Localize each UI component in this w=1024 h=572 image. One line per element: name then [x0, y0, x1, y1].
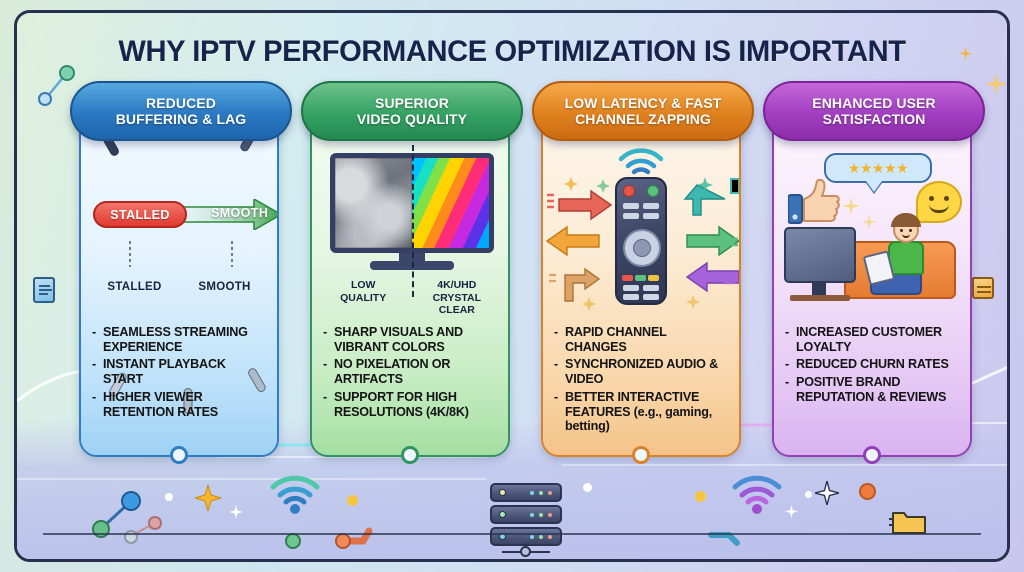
header-line-2: SATISFACTION — [823, 111, 926, 127]
server-rack-2 — [490, 505, 562, 524]
rack-dot — [530, 513, 534, 517]
card-body: ★★★★★ — [774, 111, 970, 455]
tv-low-quality-half — [335, 158, 412, 248]
card-low-latency-zapping[interactable]: -RAPID CHANNEL CHANGES -SYNCHRONIZED AUD… — [541, 109, 741, 457]
header-line-1: SUPERIOR — [375, 95, 449, 111]
network-nodes-left — [85, 485, 175, 545]
tv-split-divider — [412, 145, 414, 297]
rack-dot — [530, 491, 534, 495]
header-line-1: REDUCED — [146, 95, 216, 111]
folder-icon — [972, 277, 994, 299]
header-line-1: ENHANCED USER — [812, 95, 935, 111]
bottom-divider-line — [43, 533, 981, 535]
decor-dot-3 — [805, 491, 812, 498]
remote-button — [623, 294, 639, 300]
decor-dot-2 — [583, 483, 592, 492]
monitor-base — [790, 295, 850, 301]
remote-color-button-yellow — [648, 275, 659, 281]
remote-control — [615, 177, 667, 305]
card-reduced-buffering[interactable]: STALLED SMOOTH STALLED SMOOTH -SEAMLESS … — [79, 109, 279, 457]
sparkle-icon-white-small — [229, 505, 243, 519]
smiley-face-icon — [916, 181, 962, 223]
dotted-line-left — [129, 241, 131, 267]
rack-dot — [548, 491, 552, 495]
card-body: LOW QUALITY 4K/UHD CRYSTAL CLEAR -SHARP … — [312, 111, 508, 455]
caption-4k-uhd: 4K/UHD CRYSTAL CLEAR — [414, 279, 500, 317]
star-rating: ★★★★★ — [848, 160, 908, 177]
decor-dot-1 — [165, 493, 173, 501]
card-connector-node — [401, 446, 419, 464]
list-item: -RAPID CHANNEL CHANGES — [554, 325, 731, 354]
stalled-pill: STALLED — [93, 201, 187, 228]
list-item: -SEAMLESS STREAMING EXPERIENCE — [92, 325, 269, 354]
header-line-2: CHANNEL ZAPPING — [575, 111, 711, 127]
decor-dot-green — [285, 533, 301, 549]
wifi-icon-blue — [267, 471, 323, 515]
document-icon — [33, 277, 55, 303]
decor-dot-orange — [859, 483, 876, 500]
card-body: STALLED SMOOTH STALLED SMOOTH -SEAMLESS … — [81, 111, 277, 455]
remote-button — [643, 294, 659, 300]
remote-button — [643, 285, 659, 291]
remote-button — [623, 285, 639, 291]
buffering-spinner: STALLED SMOOTH — [81, 145, 277, 275]
caption-smooth: SMOOTH — [198, 281, 250, 293]
smooth-arrow-label: SMOOTH — [211, 206, 268, 220]
card-connector-node — [170, 446, 188, 464]
card-header-reduced-buffering[interactable]: REDUCEDBUFFERING & LAG — [70, 81, 292, 141]
list-item: -BETTER INTERACTIVE FEATURES (e.g., gami… — [554, 390, 731, 434]
card-superior-video-quality[interactable]: LOW QUALITY 4K/UHD CRYSTAL CLEAR -SHARP … — [310, 109, 510, 457]
server-rack-1 — [490, 483, 562, 502]
thumbs-up-icon — [788, 179, 840, 225]
card-connector-node — [632, 446, 650, 464]
card-bullets: -INCREASED CUSTOMER LOYALTY -REDUCED CHU… — [785, 325, 962, 408]
sparkle-icon-top-right — [985, 73, 1007, 95]
card-bullets: -RAPID CHANNEL CHANGES -SYNCHRONIZED AUD… — [554, 325, 731, 437]
header-line-2: VIDEO QUALITY — [357, 111, 467, 127]
star-rating-bubble: ★★★★★ — [824, 153, 932, 183]
rack-dot — [539, 491, 543, 495]
card-header-enhanced-user-satisfaction[interactable]: ENHANCED USERSATISFACTION — [763, 81, 985, 141]
bubble-tail — [866, 181, 882, 192]
remote-green-button — [647, 185, 659, 197]
person-body — [888, 241, 924, 275]
sparkle-icon-gold — [195, 485, 221, 511]
rack-dot — [539, 513, 543, 517]
list-item: -SYNCHRONIZED AUDIO & VIDEO — [554, 357, 731, 386]
list-item: -INCREASED CUSTOMER LOYALTY — [785, 325, 962, 354]
illustration-remote-arrows — [543, 141, 739, 319]
cable-orange — [335, 525, 385, 551]
sparkle-icon-scene-2 — [862, 215, 876, 229]
tv-captions: LOW QUALITY 4K/UHD CRYSTAL CLEAR — [312, 279, 508, 317]
list-item: -REDUCED CHURN RATES — [785, 357, 962, 372]
card-connector-node — [863, 446, 881, 464]
illustration-tv-split: LOW QUALITY 4K/UHD CRYSTAL CLEAR — [312, 141, 508, 319]
list-item: -INSTANT PLAYBACK START — [92, 357, 269, 386]
remote-power-button — [623, 185, 635, 197]
rack-led — [499, 489, 506, 496]
rack-dot — [548, 513, 552, 517]
illustration-satisfaction-scene: ★★★★★ — [774, 141, 970, 319]
tv-graphic — [330, 153, 494, 271]
remote-ok-button — [633, 239, 651, 257]
server-stack-icon — [490, 483, 562, 557]
rack-dot — [539, 535, 543, 539]
monitor — [784, 227, 856, 283]
decor-dot-gold-2 — [695, 491, 706, 502]
header-line-1: LOW LATENCY & FAST — [565, 95, 722, 111]
rack-dot — [548, 535, 552, 539]
wifi-icon-purple — [729, 471, 785, 515]
page-title: WHY IPTV PERFORMANCE OPTIMIZATION IS IMP… — [32, 35, 992, 69]
infographic-frame: WHY IPTV PERFORMANCE OPTIMIZATION IS IMP… — [14, 10, 1010, 562]
card-body: -RAPID CHANNEL CHANGES -SYNCHRONIZED AUD… — [543, 111, 739, 455]
decor-dot-gold — [347, 495, 358, 506]
cable-teal — [707, 525, 757, 551]
remote-button — [623, 213, 639, 219]
caption-stalled: STALLED — [107, 281, 161, 293]
rack-dot — [530, 535, 534, 539]
caption-low-quality: LOW QUALITY — [320, 279, 406, 317]
card-header-low-latency-zapping[interactable]: LOW LATENCY & FASTCHANNEL ZAPPING — [532, 81, 754, 141]
remote-button — [643, 203, 659, 209]
dotted-line-right — [231, 241, 233, 267]
card-bullets: -SHARP VISUALS AND VIBRANT COLORS -NO PI… — [323, 325, 500, 422]
tv-high-quality-half — [412, 158, 489, 248]
remote-button — [643, 213, 659, 219]
rack-led — [499, 511, 506, 518]
remote-button — [623, 203, 639, 209]
remote-color-button-red — [622, 275, 633, 281]
card-header-superior-video-quality[interactable]: SUPERIORVIDEO QUALITY — [301, 81, 523, 141]
list-item: -NO PIXELATION OR ARTIFACTS — [323, 357, 500, 386]
card-bullets: -SEAMLESS STREAMING EXPERIENCE -INSTANT … — [92, 325, 269, 422]
sparkle-icon-scene-1 — [842, 197, 860, 215]
list-item: -SHARP VISUALS AND VIBRANT COLORS — [323, 325, 500, 354]
remote-color-button-green — [635, 275, 646, 281]
spinner-captions: STALLED SMOOTH — [81, 281, 277, 293]
server-connector-node — [520, 546, 531, 557]
list-item: -HIGHER VIEWER RETENTION RATES — [92, 390, 269, 419]
illustration-spinner-stalled-smooth: STALLED SMOOTH STALLED SMOOTH — [81, 141, 277, 319]
card-enhanced-user-satisfaction[interactable]: ★★★★★ — [772, 109, 972, 457]
list-item: -POSITIVE BRAND REPUTATION & REVIEWS — [785, 375, 962, 404]
list-item: -SUPPORT FOR HIGH RESOLUTIONS (4K/8K) — [323, 390, 500, 419]
header-line-2: BUFFERING & LAG — [116, 111, 247, 127]
sparkle-icon-navy — [815, 481, 839, 505]
sparkle-icon-white-right — [785, 505, 798, 518]
